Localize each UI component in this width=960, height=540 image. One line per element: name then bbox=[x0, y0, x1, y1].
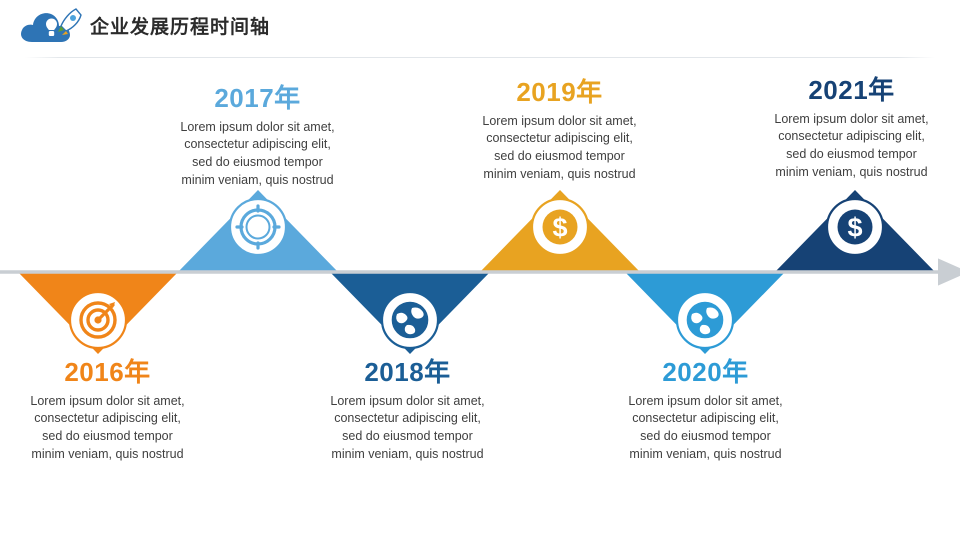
milestone-description-2021: Lorem ipsum dolor sit amet, consectetur … bbox=[744, 111, 959, 182]
milestone-block-2018: 2018年 Lorem ipsum dolor sit amet, consec… bbox=[300, 358, 515, 464]
milestone-description-2020: Lorem ipsum dolor sit amet, consectetur … bbox=[598, 393, 813, 464]
milestone-year-2021: 2021年 bbox=[744, 76, 959, 105]
milestone-icon-2017 bbox=[230, 199, 286, 255]
milestone-block-2016: 2016年 Lorem ipsum dolor sit amet, consec… bbox=[0, 358, 215, 464]
milestone-year-2017: 2017年 bbox=[150, 84, 365, 113]
milestone-block-2020: 2020年 Lorem ipsum dolor sit amet, consec… bbox=[598, 358, 813, 464]
page-header: 企业发展历程时间轴 bbox=[0, 0, 960, 58]
milestone-icon-2018 bbox=[382, 292, 438, 348]
milestone-description-2019: Lorem ipsum dolor sit amet, consectetur … bbox=[452, 113, 667, 184]
milestone-year-2018: 2018年 bbox=[300, 358, 515, 387]
milestone-year-2019: 2019年 bbox=[452, 78, 667, 107]
milestone-block-2021: 2021年 Lorem ipsum dolor sit amet, consec… bbox=[744, 76, 959, 182]
milestone-block-2019: 2019年 Lorem ipsum dolor sit amet, consec… bbox=[452, 78, 667, 184]
milestone-description-2018: Lorem ipsum dolor sit amet, consectetur … bbox=[300, 393, 515, 464]
milestone-description-2016: Lorem ipsum dolor sit amet, consectetur … bbox=[0, 393, 215, 464]
milestone-year-2020: 2020年 bbox=[598, 358, 813, 387]
milestone-block-2017: 2017年 Lorem ipsum dolor sit amet, consec… bbox=[150, 84, 365, 190]
milestone-year-2016: 2016年 bbox=[0, 358, 215, 387]
milestone-icon-2019 bbox=[532, 199, 588, 255]
milestone-icon-2021 bbox=[827, 199, 883, 255]
milestone-icon-2016 bbox=[70, 292, 126, 348]
milestone-icon-2020 bbox=[677, 292, 733, 348]
cloud-rocket-logo bbox=[18, 6, 84, 48]
page-title: 企业发展历程时间轴 bbox=[90, 12, 270, 39]
milestone-description-2017: Lorem ipsum dolor sit amet, consectetur … bbox=[150, 119, 365, 190]
